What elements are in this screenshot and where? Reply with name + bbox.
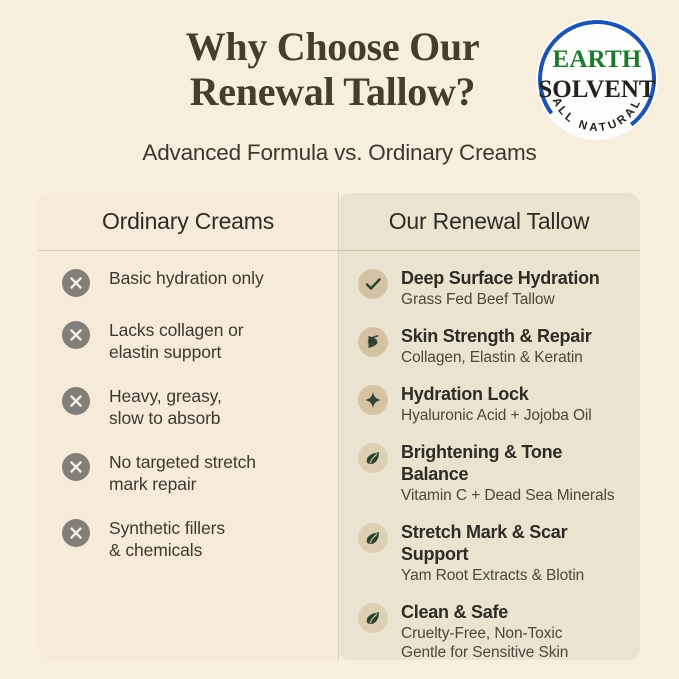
- comparison-column-renewal-tallow: Our Renewal Tallow Deep Surface Hydratio…: [338, 193, 640, 660]
- list-item-subtitle: Cruelty-Free, Non-Toxic Gentle for Sensi…: [401, 624, 568, 662]
- list-item-body: Skin Strength & Repair Collagen, Elastin…: [401, 325, 592, 367]
- list-item-body: Brightening & Tone Balance Vitamin C + D…: [401, 441, 628, 505]
- list-item-line-1: Synthetic fillers: [109, 517, 225, 539]
- list-item-title: Hydration Lock: [401, 383, 592, 405]
- list-item: Deep Surface Hydration Grass Fed Beef Ta…: [338, 267, 640, 309]
- list-item-subtitle-line-1: Hyaluronic Acid + Jojoba Oil: [401, 406, 592, 425]
- column-heading-renewal-tallow: Our Renewal Tallow: [338, 193, 640, 251]
- leaf-icon: [358, 523, 388, 553]
- dna-helix-icon: [358, 327, 388, 357]
- list-item: Skin Strength & Repair Collagen, Elastin…: [338, 325, 640, 367]
- list-item: Heavy, greasy, slow to absorb: [38, 385, 338, 429]
- list-item: Brightening & Tone Balance Vitamin C + D…: [338, 441, 640, 505]
- list-item-title: Skin Strength & Repair: [401, 325, 592, 347]
- sparkle-icon: [358, 385, 388, 415]
- list-item: Basic hydration only: [38, 267, 338, 297]
- comparison-card: Ordinary Creams Basic hydration only Lac…: [38, 193, 640, 660]
- list-item-subtitle-line-1: Vitamin C + Dead Sea Minerals: [401, 486, 628, 505]
- list-item-text: Heavy, greasy, slow to absorb: [109, 385, 222, 429]
- page-subtitle: Advanced Formula vs. Ordinary Creams: [0, 140, 679, 166]
- x-circle-icon: [62, 519, 90, 547]
- list-item-line-1: No targeted stretch: [109, 451, 256, 473]
- renewal-tallow-list: Deep Surface Hydration Grass Fed Beef Ta…: [338, 251, 640, 662]
- list-item-subtitle-line-1: Yam Root Extracts & Blotin: [401, 566, 628, 585]
- x-circle-icon: [62, 387, 90, 415]
- list-item-title: Clean & Safe: [401, 601, 568, 623]
- x-circle-icon: [62, 321, 90, 349]
- list-item-body: Clean & Safe Cruelty-Free, Non-Toxic Gen…: [401, 601, 568, 662]
- x-circle-icon: [62, 453, 90, 481]
- list-item-body: Hydration Lock Hyaluronic Acid + Jojoba …: [401, 383, 592, 425]
- list-item-text: Lacks collagen or elastin support: [109, 319, 244, 363]
- list-item-line-2: elastin support: [109, 341, 244, 363]
- list-item-subtitle: Yam Root Extracts & Blotin: [401, 566, 628, 585]
- list-item-line-2: & chemicals: [109, 539, 225, 561]
- leaf-icon: [358, 443, 388, 473]
- column-divider: [338, 193, 339, 660]
- list-item: Synthetic fillers & chemicals: [38, 517, 338, 561]
- comparison-column-ordinary: Ordinary Creams Basic hydration only Lac…: [38, 193, 338, 660]
- list-item-line-2: mark repair: [109, 473, 256, 495]
- list-item-text: Synthetic fillers & chemicals: [109, 517, 225, 561]
- list-item: Stretch Mark & Scar Support Yam Root Ext…: [338, 521, 640, 585]
- logo-word-solvent: SOLVENT: [536, 76, 658, 104]
- list-item: Lacks collagen or elastin support: [38, 319, 338, 363]
- list-item-subtitle-line-1: Grass Fed Beef Tallow: [401, 290, 600, 309]
- list-item-title: Deep Surface Hydration: [401, 267, 600, 289]
- list-item-text: No targeted stretch mark repair: [109, 451, 256, 495]
- list-item-title: Brightening & Tone Balance: [401, 441, 628, 485]
- list-item-line-1: Basic hydration only: [109, 267, 264, 289]
- list-item-line-2: slow to absorb: [109, 407, 222, 429]
- column-heading-ordinary: Ordinary Creams: [38, 193, 338, 251]
- list-item-subtitle-line-1: Collagen, Elastin & Keratin: [401, 348, 592, 367]
- list-item: Hydration Lock Hyaluronic Acid + Jojoba …: [338, 383, 640, 425]
- x-circle-icon: [62, 269, 90, 297]
- list-item-body: Deep Surface Hydration Grass Fed Beef Ta…: [401, 267, 600, 309]
- list-item-subtitle-line-2: Gentle for Sensitive Skin: [401, 643, 568, 662]
- list-item-subtitle: Vitamin C + Dead Sea Minerals: [401, 486, 628, 505]
- list-item-line-1: Heavy, greasy,: [109, 385, 222, 407]
- check-icon: [358, 269, 388, 299]
- ordinary-creams-list: Basic hydration only Lacks collagen or e…: [38, 251, 338, 561]
- list-item-title: Stretch Mark & Scar Support: [401, 521, 628, 565]
- list-item-subtitle-line-1: Cruelty-Free, Non-Toxic: [401, 624, 568, 643]
- list-item-subtitle: Collagen, Elastin & Keratin: [401, 348, 592, 367]
- list-item: No targeted stretch mark repair: [38, 451, 338, 495]
- logo-word-earth: EARTH: [536, 46, 658, 74]
- list-item-subtitle: Hyaluronic Acid + Jojoba Oil: [401, 406, 592, 425]
- list-item-line-1: Lacks collagen or: [109, 319, 244, 341]
- list-item-subtitle: Grass Fed Beef Tallow: [401, 290, 600, 309]
- list-item-body: Stretch Mark & Scar Support Yam Root Ext…: [401, 521, 628, 585]
- page-header: Why Choose Our Renewal Tallow? Advanced …: [0, 0, 679, 185]
- brand-logo: ALL NATURAL EARTH SOLVENT: [536, 18, 658, 140]
- leaf-icon: [358, 603, 388, 633]
- list-item-text: Basic hydration only: [109, 267, 264, 289]
- list-item: Clean & Safe Cruelty-Free, Non-Toxic Gen…: [338, 601, 640, 662]
